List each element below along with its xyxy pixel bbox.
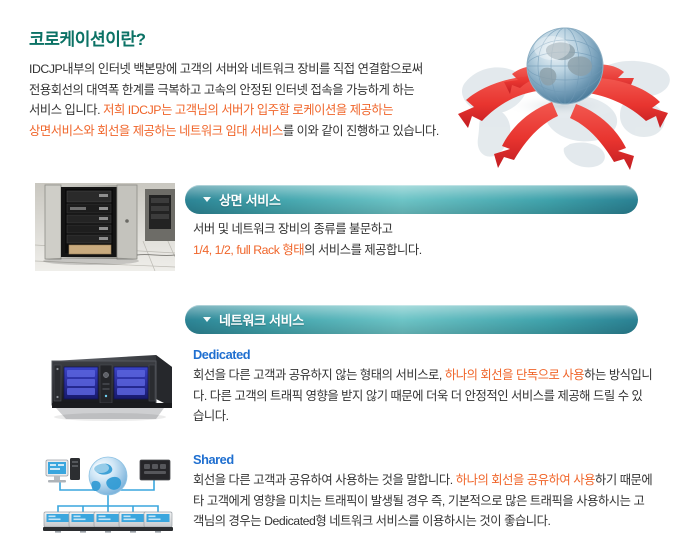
floor-service-line-1: 서버 및 네트워크 장비의 종류를 불문하고 [193,222,393,236]
intro-line-2: 전용회선의 대역폭 한계를 극복하고 고속의 안정된 인터넷 접속을 가능하게 … [29,83,414,97]
dedicated-highlight: 하나의 회선을 단독으로 사용 [445,368,584,382]
server-rack-photo [35,183,175,271]
dedicated-heading: Dedicated [193,345,653,364]
page-title: 코로케이션이란? [29,25,146,50]
network-topology-diagram [36,450,180,542]
server-box-icon [140,460,170,480]
triangle-down-icon [203,317,211,322]
shared-text-1: 회선을 다른 고객과 공유하여 사용하는 것을 말합니다. [193,473,456,487]
globe-sphere [527,28,603,104]
intro-line-1: IDCJP내부의 인터넷 백본망에 고객의 서버와 네트워크 장비를 직접 연결… [29,62,423,76]
banner-label-network-service: 네트워크 서비스 [219,310,304,329]
shared-highlight: 하나의 회선을 공유하여 사용 [456,473,595,487]
floor-service-line-2-plain: 의 서비스를 제공합니다. [304,243,422,257]
center-globe-icon [89,457,127,495]
globe-arrows-graphic [452,6,680,174]
section-banner-network-service[interactable]: 네트워크 서비스 [185,305,638,334]
intro-line-4-highlight: 상면서비스와 회선을 제공하는 네트워크 임대 서비스 [29,124,283,138]
intro-line-3-highlight: 저희 IDCJP는 고객님의 서버가 입주할 로케이션을 제공하는 [103,103,393,117]
floor-service-highlight: 1/4, 1/2, full Rack 형태 [193,243,304,257]
intro-line-3-plain: 서비스 입니다. [29,103,103,117]
section-banner-floor-service[interactable]: 상면 서비스 [185,185,638,214]
intro-paragraph: IDCJP내부의 인터넷 백본망에 고객의 서버와 네트워크 장비를 직접 연결… [29,59,459,141]
shared-heading: Shared [193,450,653,469]
shared-body: Shared 회선을 다른 고객과 공유하여 사용하는 것을 말합니다. 하나의… [193,450,653,532]
rackmount-server-photo [36,345,179,425]
dedicated-text-1: 회선을 다른 고객과 공유하지 않는 형태의 서비스로, [193,368,445,382]
client-laptops [43,512,173,533]
banner-label-floor-service: 상면 서비스 [219,190,281,209]
triangle-down-icon [203,197,211,202]
intro-line-4-plain: 를 이와 같이 진행하고 있습니다. [283,124,439,138]
dedicated-body: Dedicated 회선을 다른 고객과 공유하지 않는 형태의 서비스로, 하… [193,345,653,427]
floor-service-body: 서버 및 네트워크 장비의 종류를 불문하고 1/4, 1/2, full Ra… [193,219,653,260]
